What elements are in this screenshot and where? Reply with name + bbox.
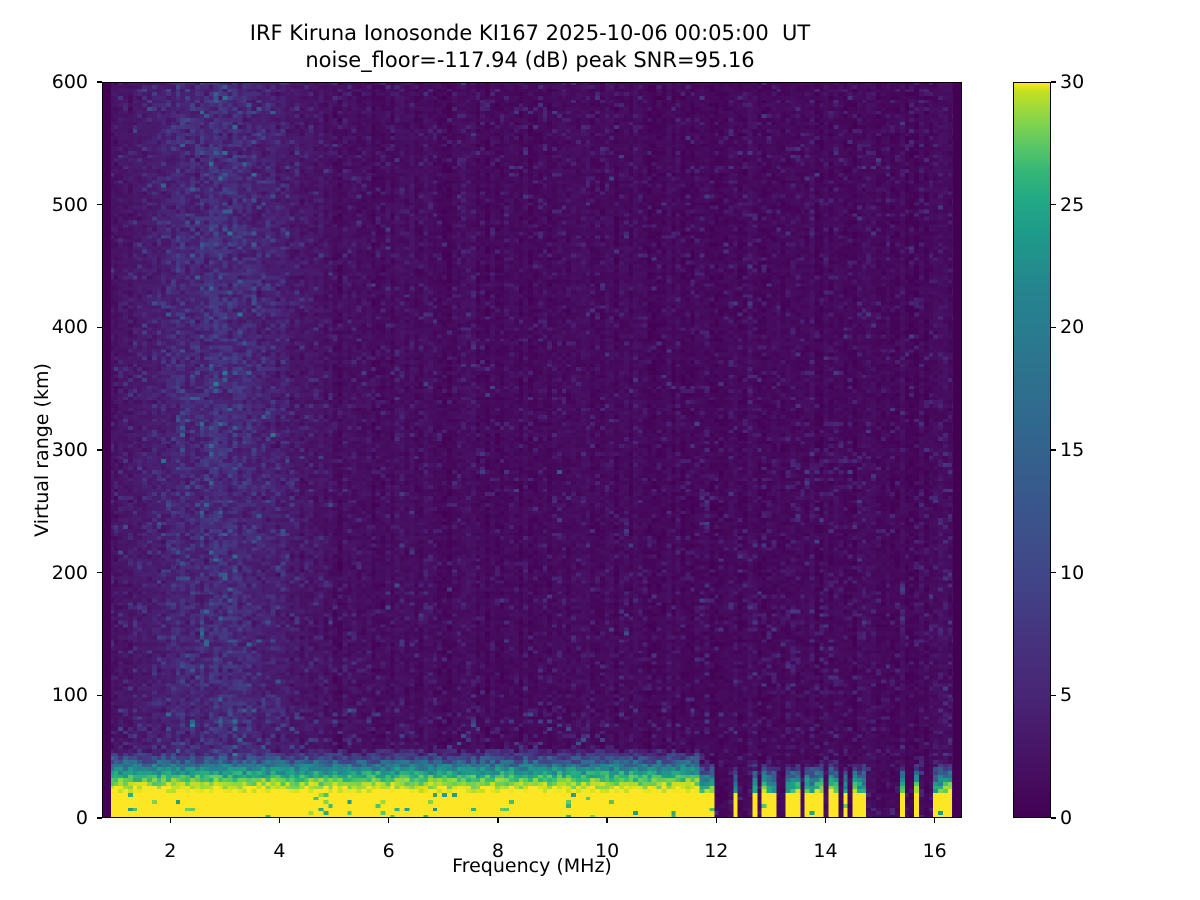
ionogram-figure: IRF Kiruna Ionosonde KI167 2025-10-06 00… <box>0 0 1200 900</box>
colorbar-tick-label: 30 <box>1060 71 1084 93</box>
y-tick-label: 600 <box>28 71 88 93</box>
y-axis-label: Virtual range (km) <box>31 320 53 580</box>
x-tick-mark <box>934 818 935 823</box>
x-tick-mark <box>716 818 717 823</box>
y-tick-label: 0 <box>28 807 88 829</box>
ionogram-plot-area <box>102 82 962 818</box>
x-tick-mark <box>170 818 171 823</box>
colorbar-tick-label: 10 <box>1060 562 1084 584</box>
colorbar-tick-mark <box>1051 204 1056 205</box>
colorbar-tick-label: 15 <box>1060 439 1084 461</box>
colorbar-tick-label: 20 <box>1060 316 1084 338</box>
title-line-2: noise_floor=-117.94 (dB) peak SNR=95.16 <box>0 47 1060 74</box>
y-tick-label: 100 <box>28 684 88 706</box>
x-tick-mark <box>279 818 280 823</box>
colorbar-tick-mark <box>1051 817 1056 818</box>
figure-title: IRF Kiruna Ionosonde KI167 2025-10-06 00… <box>0 20 1060 74</box>
x-axis-label: Frequency (MHz) <box>102 855 962 877</box>
colorbar-tick-label: 5 <box>1060 684 1072 706</box>
x-tick-mark <box>497 818 498 823</box>
x-tick-mark <box>825 818 826 823</box>
y-tick-label: 500 <box>28 194 88 216</box>
colorbar-tick-mark <box>1051 695 1056 696</box>
colorbar-tick-label: 25 <box>1060 194 1084 216</box>
colorbar-tick-mark <box>1051 81 1056 82</box>
title-line-1: IRF Kiruna Ionosonde KI167 2025-10-06 00… <box>0 20 1060 47</box>
x-tick-mark <box>606 818 607 823</box>
x-tick-mark <box>388 818 389 823</box>
colorbar-tick-mark <box>1051 327 1056 328</box>
colorbar-tick-mark <box>1051 572 1056 573</box>
colorbar-tick-mark <box>1051 449 1056 450</box>
ionogram-heatmap-canvas <box>103 83 961 817</box>
colorbar-tick-label: 0 <box>1060 807 1072 829</box>
snr-colorbar <box>1013 82 1051 818</box>
